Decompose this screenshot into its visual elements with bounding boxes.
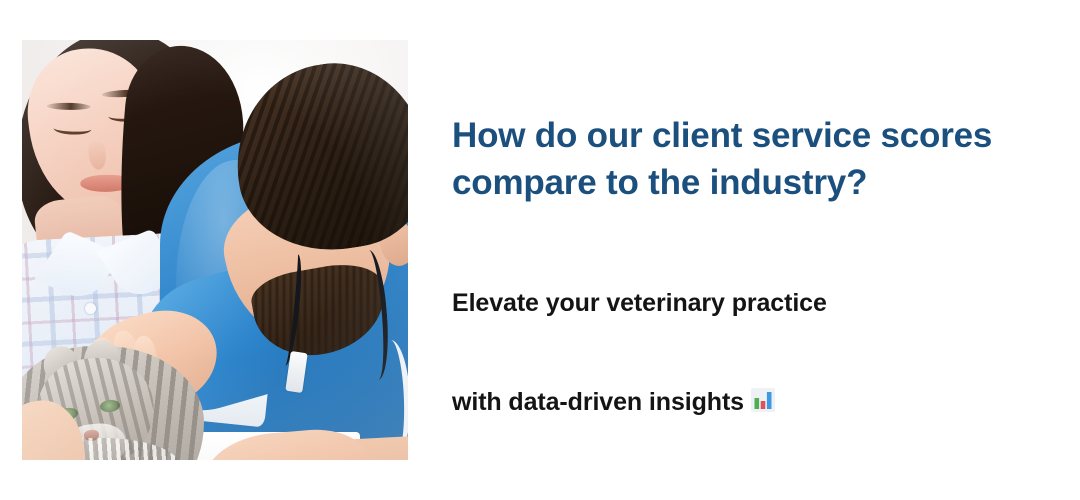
page-title: How do our client service scores compare… (452, 112, 1042, 206)
subheading-line-1: Elevate your veterinary practice (452, 287, 827, 320)
subheading-line-2: with data-driven insights (452, 388, 744, 416)
bar-chart-emoji (750, 387, 776, 413)
woman-eyebrow-left (47, 103, 91, 111)
shirt-button-upper (85, 303, 96, 314)
promo-banner: How do our client service scores compare… (0, 0, 1080, 500)
veterinary-photo (22, 40, 408, 460)
woman-eye-left (53, 122, 91, 135)
copy-block: How do our client service scores compare… (452, 112, 1042, 206)
subheading: Elevate your veterinary practice with da… (452, 254, 827, 452)
photo-canvas (22, 40, 408, 460)
woman-nose (87, 139, 108, 171)
subheading-line-2-wrap: with data-driven insights (452, 353, 827, 419)
